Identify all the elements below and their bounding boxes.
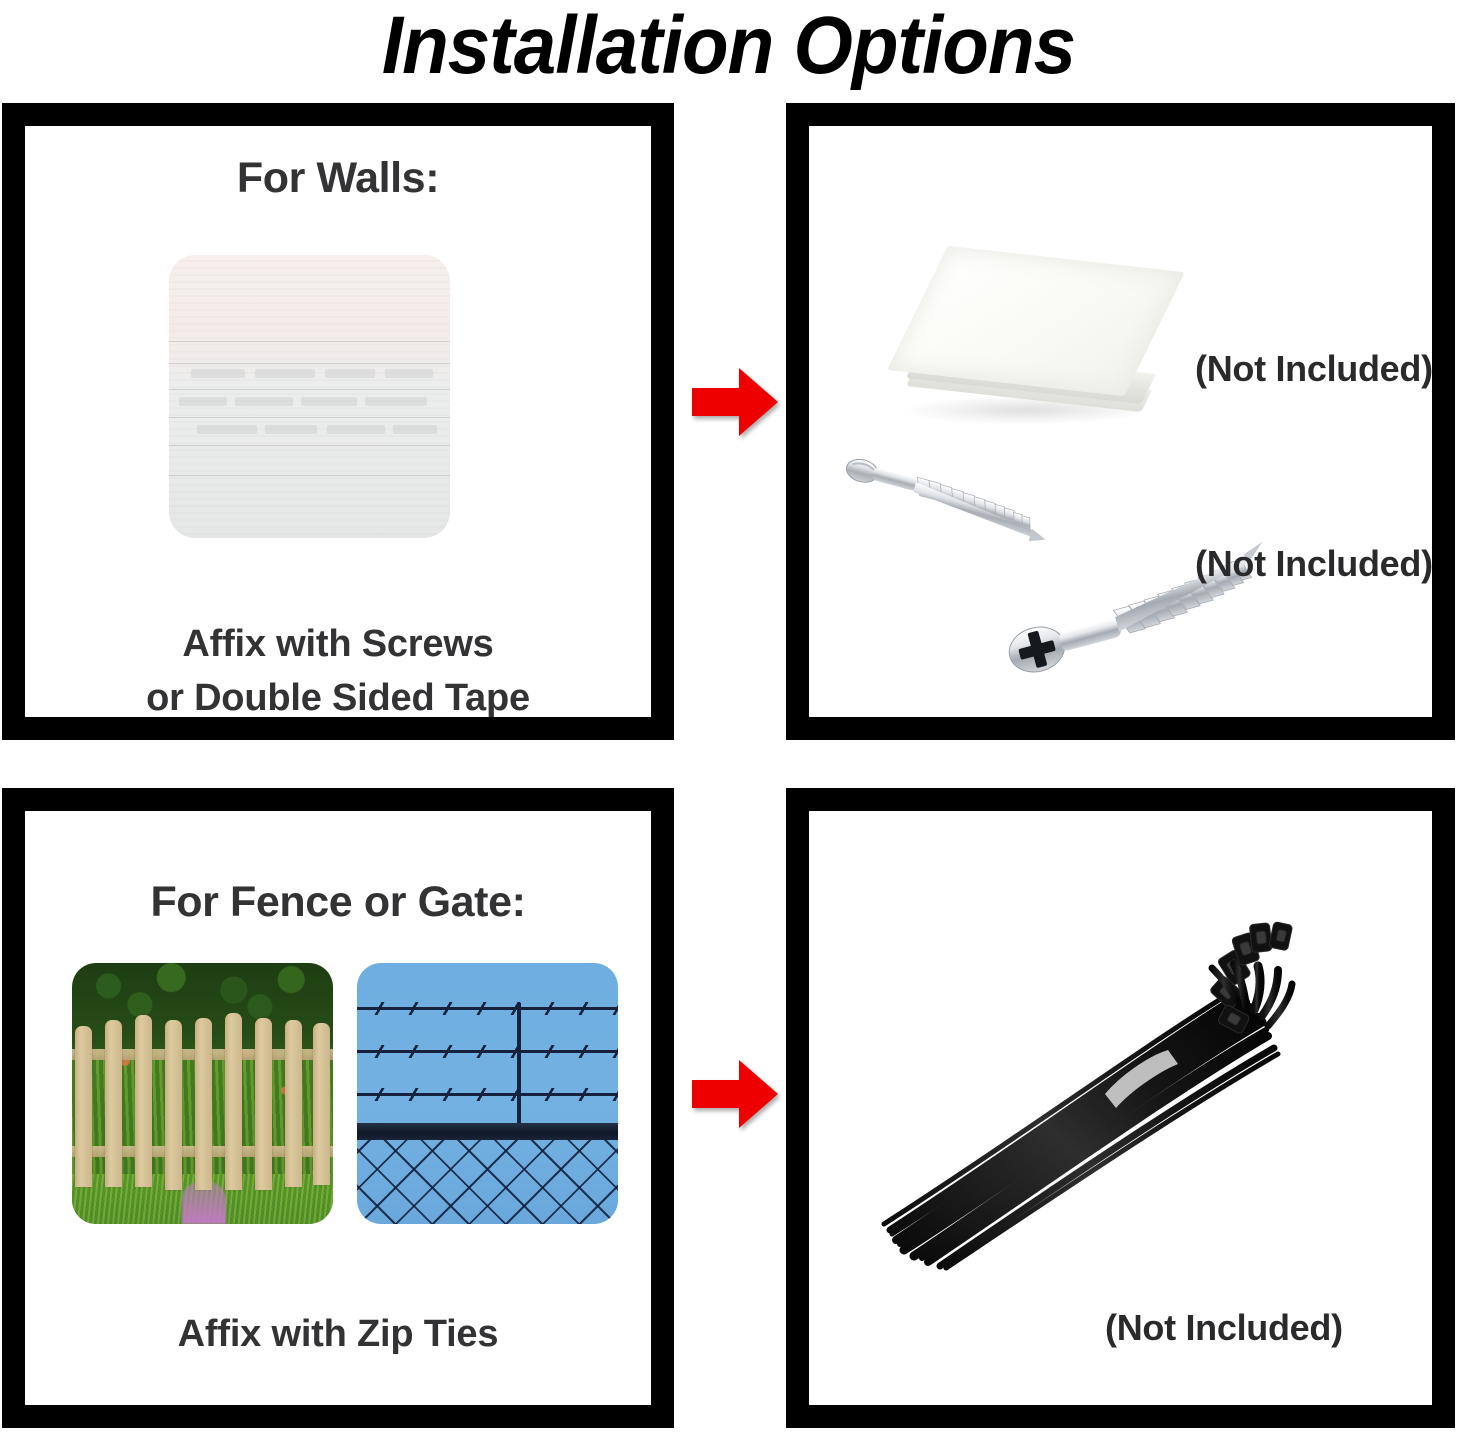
fence-picket bbox=[165, 1020, 182, 1190]
barbed-wire-strand bbox=[357, 1050, 618, 1053]
fence-picket bbox=[255, 1018, 272, 1190]
wall-mortar-line bbox=[169, 341, 450, 342]
screws-not-included-label: (Not Included) bbox=[1195, 543, 1432, 585]
double-sided-tape-stack bbox=[883, 255, 1185, 445]
wall-brick bbox=[365, 397, 427, 406]
panel-wall-hardware-inner: (Not Included) bbox=[809, 126, 1432, 717]
fence-picket bbox=[105, 1020, 122, 1187]
wall-brick bbox=[265, 425, 317, 434]
wood-screw-upper bbox=[845, 453, 1105, 563]
panel-for-walls: For Walls: Affix with Screws or Double S… bbox=[2, 103, 674, 740]
wall-brick bbox=[301, 397, 357, 406]
wall-mortar-line bbox=[169, 389, 450, 390]
barbed-wire-strand bbox=[357, 1093, 618, 1096]
tape-not-included-label: (Not Included) bbox=[1195, 348, 1432, 390]
fence-picket bbox=[313, 1023, 330, 1185]
wall-brick bbox=[393, 425, 437, 434]
zipties-not-included-label: (Not Included) bbox=[1105, 1307, 1343, 1349]
barbed-wire-strand bbox=[357, 1007, 618, 1010]
chain-link-barbed-wire-photo bbox=[357, 963, 618, 1224]
fence-picket bbox=[75, 1026, 92, 1188]
arrow-right-icon-top bbox=[692, 366, 778, 438]
wall-mortar-line bbox=[169, 417, 450, 418]
wall-brick bbox=[197, 425, 257, 434]
walls-caption-line-2: or Double Sided Tape bbox=[25, 671, 651, 717]
fence-picket bbox=[285, 1020, 302, 1187]
fence-top-rail bbox=[357, 1123, 618, 1140]
wall-brick bbox=[327, 425, 385, 434]
fence-heading: For Fence or Gate: bbox=[25, 878, 651, 927]
wall-brick bbox=[255, 369, 315, 378]
chain-link-mesh bbox=[357, 1140, 618, 1224]
wall-brick bbox=[191, 369, 245, 378]
wall-mortar-line bbox=[169, 475, 450, 476]
page-title: Installation Options bbox=[51, 0, 1406, 96]
wall-brick bbox=[325, 369, 375, 378]
wall-brick bbox=[385, 369, 433, 378]
fence-caption: Affix with Zip Ties bbox=[25, 1307, 651, 1361]
fence-picket bbox=[225, 1013, 242, 1190]
panel-wall-hardware: (Not Included) bbox=[786, 103, 1455, 740]
fence-post bbox=[517, 1003, 521, 1133]
fence-picket bbox=[195, 1018, 212, 1190]
wall-mortar-line bbox=[169, 445, 450, 446]
fence-picket bbox=[135, 1015, 152, 1187]
wall-mortar-line bbox=[169, 363, 450, 364]
wall-brick bbox=[235, 397, 293, 406]
panel-for-walls-inner: For Walls: Affix with Screws or Double S… bbox=[25, 126, 651, 717]
walls-heading: For Walls: bbox=[25, 154, 651, 203]
wooden-picket-fence-photo bbox=[72, 963, 333, 1224]
arrow-right-icon-bottom bbox=[692, 1058, 778, 1130]
wall-brick bbox=[179, 397, 227, 406]
walls-caption-line-1: Affix with Screws bbox=[25, 617, 651, 671]
white-brick-wall-photo bbox=[169, 255, 450, 538]
black-zip-tie-bundle bbox=[862, 918, 1292, 1268]
